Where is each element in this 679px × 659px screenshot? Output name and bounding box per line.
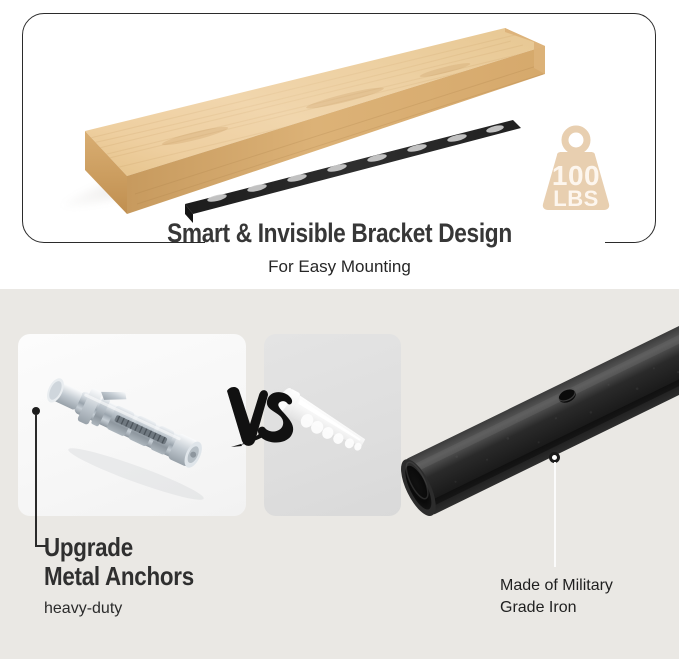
callout-leader-line-right [554, 462, 556, 567]
metal-anchor-headline-line1: Upgrade [44, 533, 285, 562]
floating-shelf-illustration [45, 18, 565, 223]
metal-anchor-photo-card [18, 334, 246, 516]
iron-pipe-product-image [390, 295, 679, 595]
iron-pipe-line1: Made of Military [500, 575, 679, 597]
weight-unit: LBS [527, 188, 625, 210]
metal-anchor-subtext: heavy-duty [44, 600, 324, 618]
top-subhead: For Easy Mounting [0, 257, 679, 277]
callout-leader-line-left [35, 414, 37, 546]
top-feature-panel: 100 LBS Smart & Invisible Bracket Design… [0, 0, 679, 289]
metal-anchor-callout-text: Upgrade Metal Anchors heavy-duty [44, 533, 324, 618]
vs-badge [223, 381, 301, 455]
metal-anchor-headline-line2: Metal Anchors [44, 562, 285, 591]
product-infographic: 100 LBS Smart & Invisible Bracket Design… [0, 0, 679, 659]
iron-pipe-illustration [390, 295, 679, 595]
shelf-product-image [45, 18, 565, 223]
iron-pipe-line2: Grade Iron [500, 597, 679, 619]
callout-leader-elbow-left [35, 545, 46, 547]
top-headline: Smart & Invisible Bracket Design [54, 218, 624, 249]
weight-capacity-badge: 100 LBS [527, 124, 625, 216]
iron-pipe-callout-text: Made of Military Grade Iron [500, 575, 679, 618]
vs-icon [223, 381, 301, 455]
metal-anchor-illustration [18, 334, 246, 516]
